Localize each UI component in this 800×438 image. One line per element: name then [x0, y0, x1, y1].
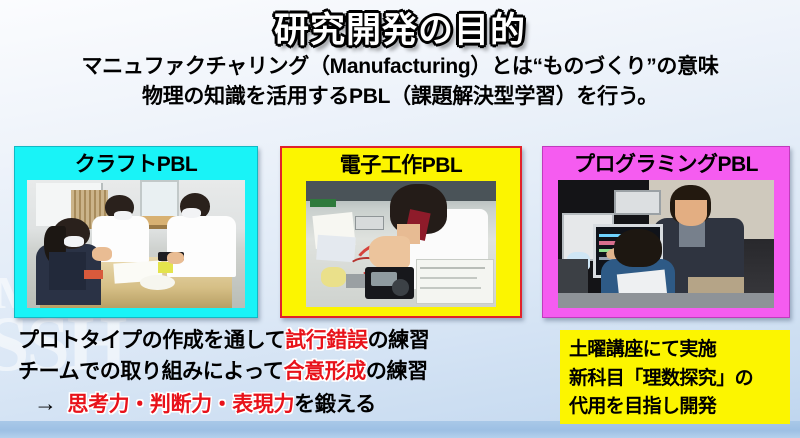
- outcome-line-2-highlight: 合意形成: [284, 360, 366, 383]
- outcome-line-2: チームでの取り組みによって合意形成の練習: [18, 357, 556, 388]
- panel-programming-title: プログラミングPBL: [546, 150, 786, 180]
- panel-electronics-title: 電子工作PBL: [285, 151, 517, 181]
- note-line-3: 代用を目指し開発: [569, 393, 783, 422]
- outcome-text-block: プロトタイプの作成を通して試行錯誤の練習 チームでの取り組みによって合意形成の練…: [18, 326, 556, 421]
- electronics-bench-illustration: [306, 181, 496, 307]
- panel-electronics-pbl[interactable]: 電子工作PBL: [280, 146, 522, 318]
- outcome-line-1-pre: プロトタイプの作成を通して: [18, 329, 285, 352]
- outcome-line-1-post: の練習: [368, 329, 430, 352]
- outcome-line-3: → 思考力・判断力・表現力を鍛える: [18, 387, 556, 421]
- craft-classroom-illustration: [27, 180, 245, 308]
- panel-programming-photo: [558, 180, 774, 308]
- panel-programming-pbl[interactable]: プログラミングPBL: [542, 146, 790, 318]
- note-line-2: 新科目「理数探究」の: [569, 365, 783, 394]
- panel-craft-photo: [27, 180, 245, 308]
- panel-craft-pbl[interactable]: クラフトPBL: [14, 146, 258, 318]
- slide-root: MEXT SSH 研究開発の目的 マニュファクチャリング（Manufacturi…: [0, 0, 800, 438]
- outcome-line-1-highlight: 試行錯誤: [285, 329, 367, 352]
- subtitle-line-2: 物理の知識を活用するPBL（課題解決型学習）を行う。: [0, 82, 800, 112]
- panel-craft-title: クラフトPBL: [18, 150, 254, 180]
- subtitle-line-1: マニュファクチャリング（Manufacturing）とは“ものづくり”の意味: [0, 52, 800, 82]
- panel-electronics-photo: [306, 181, 496, 307]
- outcome-line-3-highlight: 思考力・判断力・表現力: [67, 393, 294, 416]
- outcome-line-1: プロトタイプの作成を通して試行錯誤の練習: [18, 326, 556, 357]
- note-line-1: 土曜講座にて実施: [569, 336, 783, 365]
- arrow-icon: →: [34, 390, 57, 416]
- page-title: 研究開発の目的: [0, 2, 800, 53]
- programming-lab-illustration: [558, 180, 774, 308]
- outcome-line-2-pre: チームでの取り組みによって: [18, 360, 284, 383]
- subtitle-block: マニュファクチャリング（Manufacturing）とは“ものづくり”の意味 物…: [0, 52, 800, 112]
- outcome-line-2-post: の練習: [366, 360, 428, 383]
- note-box[interactable]: 土曜講座にて実施 新科目「理数探究」の 代用を目指し開発: [560, 330, 790, 424]
- outcome-line-3-post: を鍛える: [294, 393, 376, 416]
